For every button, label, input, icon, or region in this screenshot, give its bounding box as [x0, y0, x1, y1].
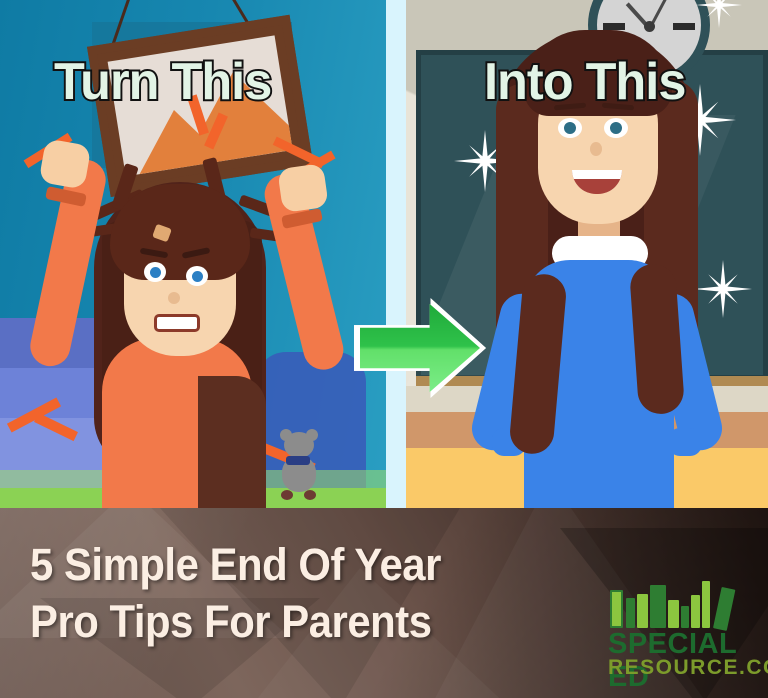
teddy-foot-right [304, 490, 316, 500]
book-8 [702, 581, 710, 628]
teddy-bowtie [286, 456, 310, 465]
book-9-tilted [713, 587, 735, 631]
promo-graphic: Turn This Into This 5 Simple End Of Year… [0, 0, 768, 698]
girl-left-pupil-right [192, 271, 203, 282]
book-7 [691, 595, 700, 628]
girl-left-fist-left [39, 138, 92, 189]
girl-right-pupil-left [564, 122, 576, 134]
special-ed-resource-logo[interactable]: SPECIAL ED RESOURCE.COM [608, 580, 758, 680]
arrow-fill [360, 302, 480, 394]
logo-line-2: RESOURCE.COM [608, 656, 768, 680]
book-6 [681, 606, 689, 628]
book-5 [668, 600, 679, 628]
book-1 [610, 590, 623, 628]
book-2 [626, 598, 635, 628]
left-panel-headline: Turn This [54, 52, 271, 112]
panel-divider [386, 0, 406, 510]
teddy-foot-left [281, 490, 293, 500]
girl-right-hand-right [668, 428, 702, 456]
stack-of-books-icon [610, 580, 740, 628]
girl-left-gritted-teeth-mouth [154, 314, 200, 332]
girl-left-hair-over-shoulder [198, 376, 266, 510]
book-4 [650, 585, 666, 628]
girl-right-teeth [572, 170, 622, 179]
girl-left-pupil-left [150, 267, 161, 278]
girl-right-nose [590, 142, 602, 156]
girl-right-pupil-right [610, 122, 622, 134]
right-panel-headline: Into This [484, 52, 685, 112]
teddy-bear-icon [270, 432, 328, 504]
banner-title: 5 Simple End Of Year Pro Tips For Parent… [30, 536, 560, 650]
book-3 [637, 594, 648, 628]
girl-left-fist-right [277, 163, 329, 213]
girl-left-nose [168, 292, 180, 304]
green-right-arrow-icon [354, 296, 486, 400]
girl-left-hair-front [110, 184, 250, 280]
teddy-head [284, 432, 314, 458]
